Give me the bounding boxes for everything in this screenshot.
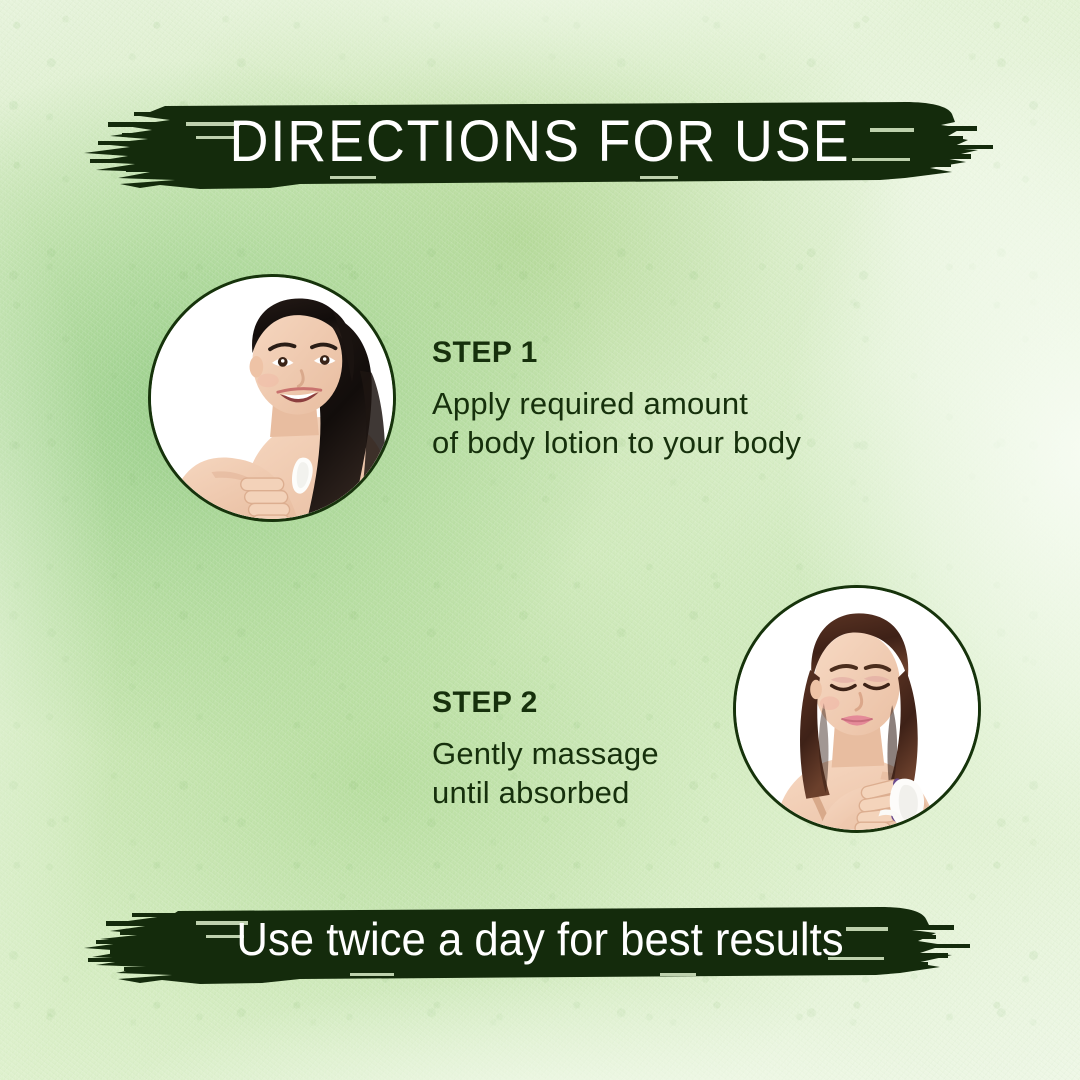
directions-for-use-poster: DIRECTIONS FOR USE [0,0,1080,1080]
step-2-photo [733,585,981,833]
smiling-woman-applying-lotion-to-arm-illustration [151,277,393,519]
step-2-line-2: until absorbed [432,773,659,812]
step-1-text-block: STEP 1 Apply required amount of body lot… [432,336,801,462]
footer-tagline: Use twice a day for best results [27,912,1053,966]
step-2-line-1: Gently massage [432,734,659,773]
page-title: DIRECTIONS FOR USE [38,108,1042,175]
woman-massaging-lotion-into-shoulder-illustration [736,588,978,830]
step-2-text-block: STEP 2 Gently massage until absorbed [432,686,659,812]
step-1-label: STEP 1 [432,336,801,370]
step-1-line-2: of body lotion to your body [432,423,801,462]
step-1-photo [148,274,396,522]
step-2-label: STEP 2 [432,686,659,720]
step-1-line-1: Apply required amount [432,384,801,423]
